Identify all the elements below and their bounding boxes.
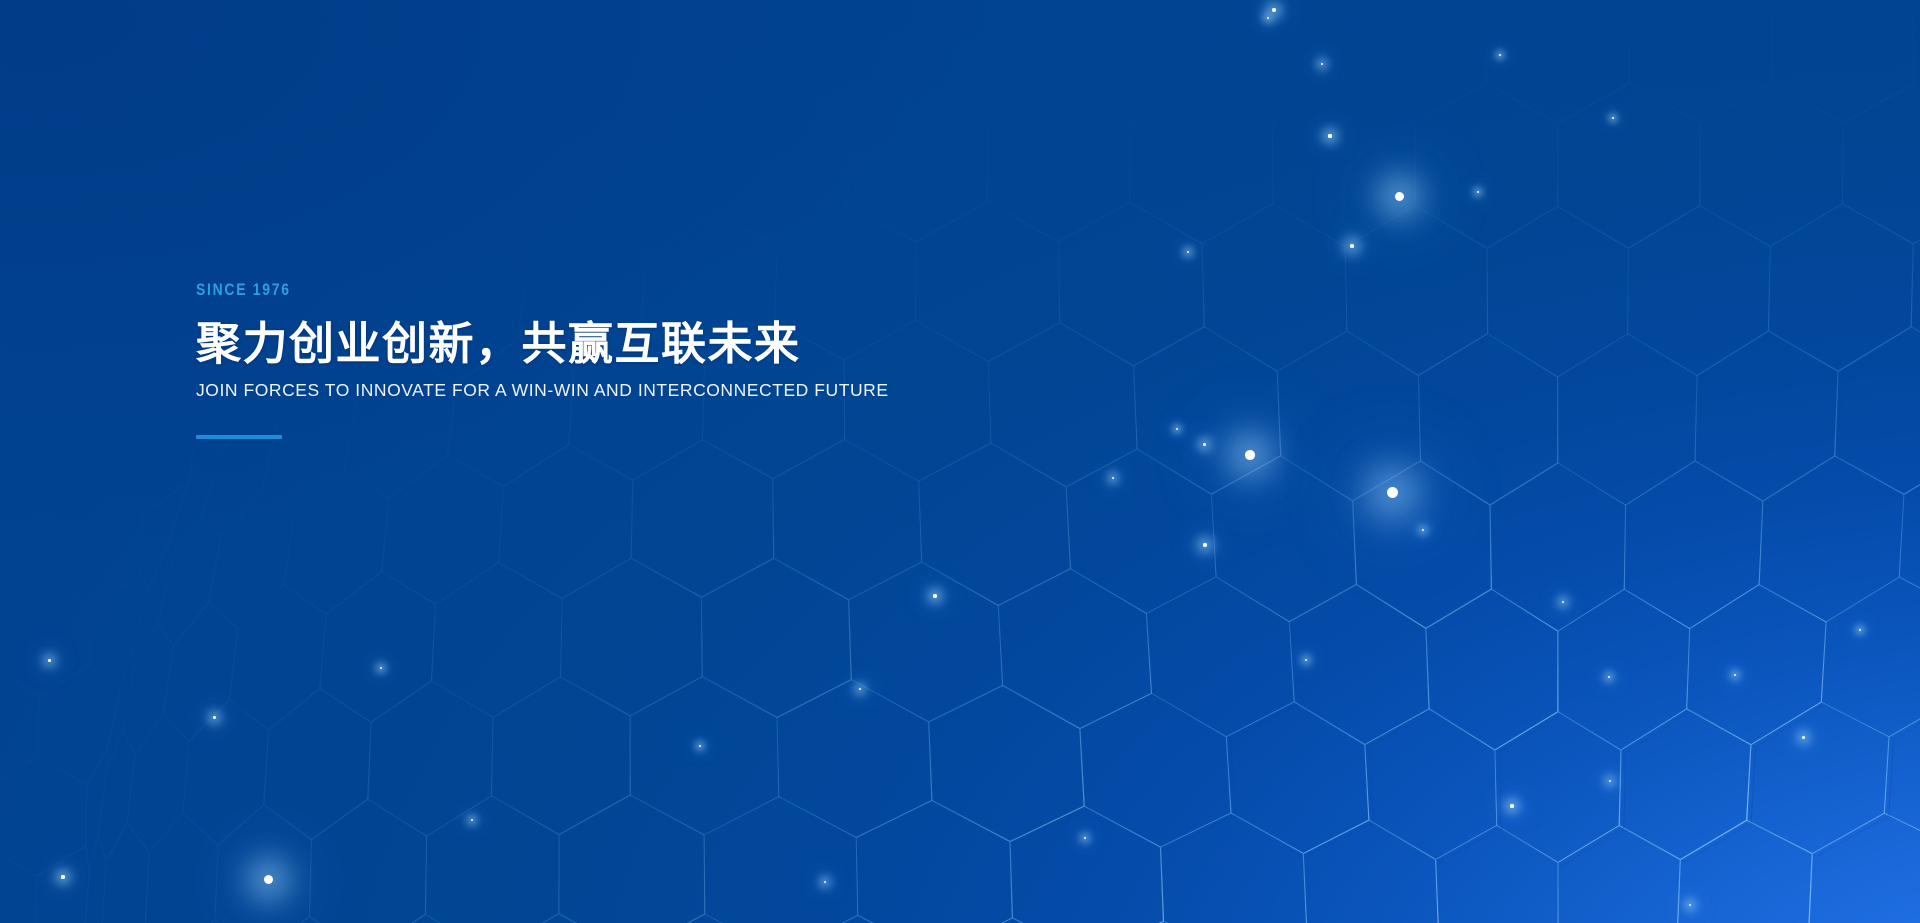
accent-rule-divider <box>196 435 282 439</box>
hero-copy-block: SINCE 1976 聚力创业创新，共赢互联未来 JOIN FORCES TO … <box>196 281 1096 439</box>
hero-banner: SINCE 1976 聚力创业创新，共赢互联未来 JOIN FORCES TO … <box>0 0 1920 923</box>
page-subtitle: JOIN FORCES TO INNOVATE FOR A WIN-WIN AN… <box>196 380 1096 401</box>
since-eyebrow-label: SINCE 1976 <box>196 281 934 298</box>
background-vignette <box>0 0 1920 923</box>
page-title: 聚力创业创新，共赢互联未来 <box>196 318 1096 370</box>
